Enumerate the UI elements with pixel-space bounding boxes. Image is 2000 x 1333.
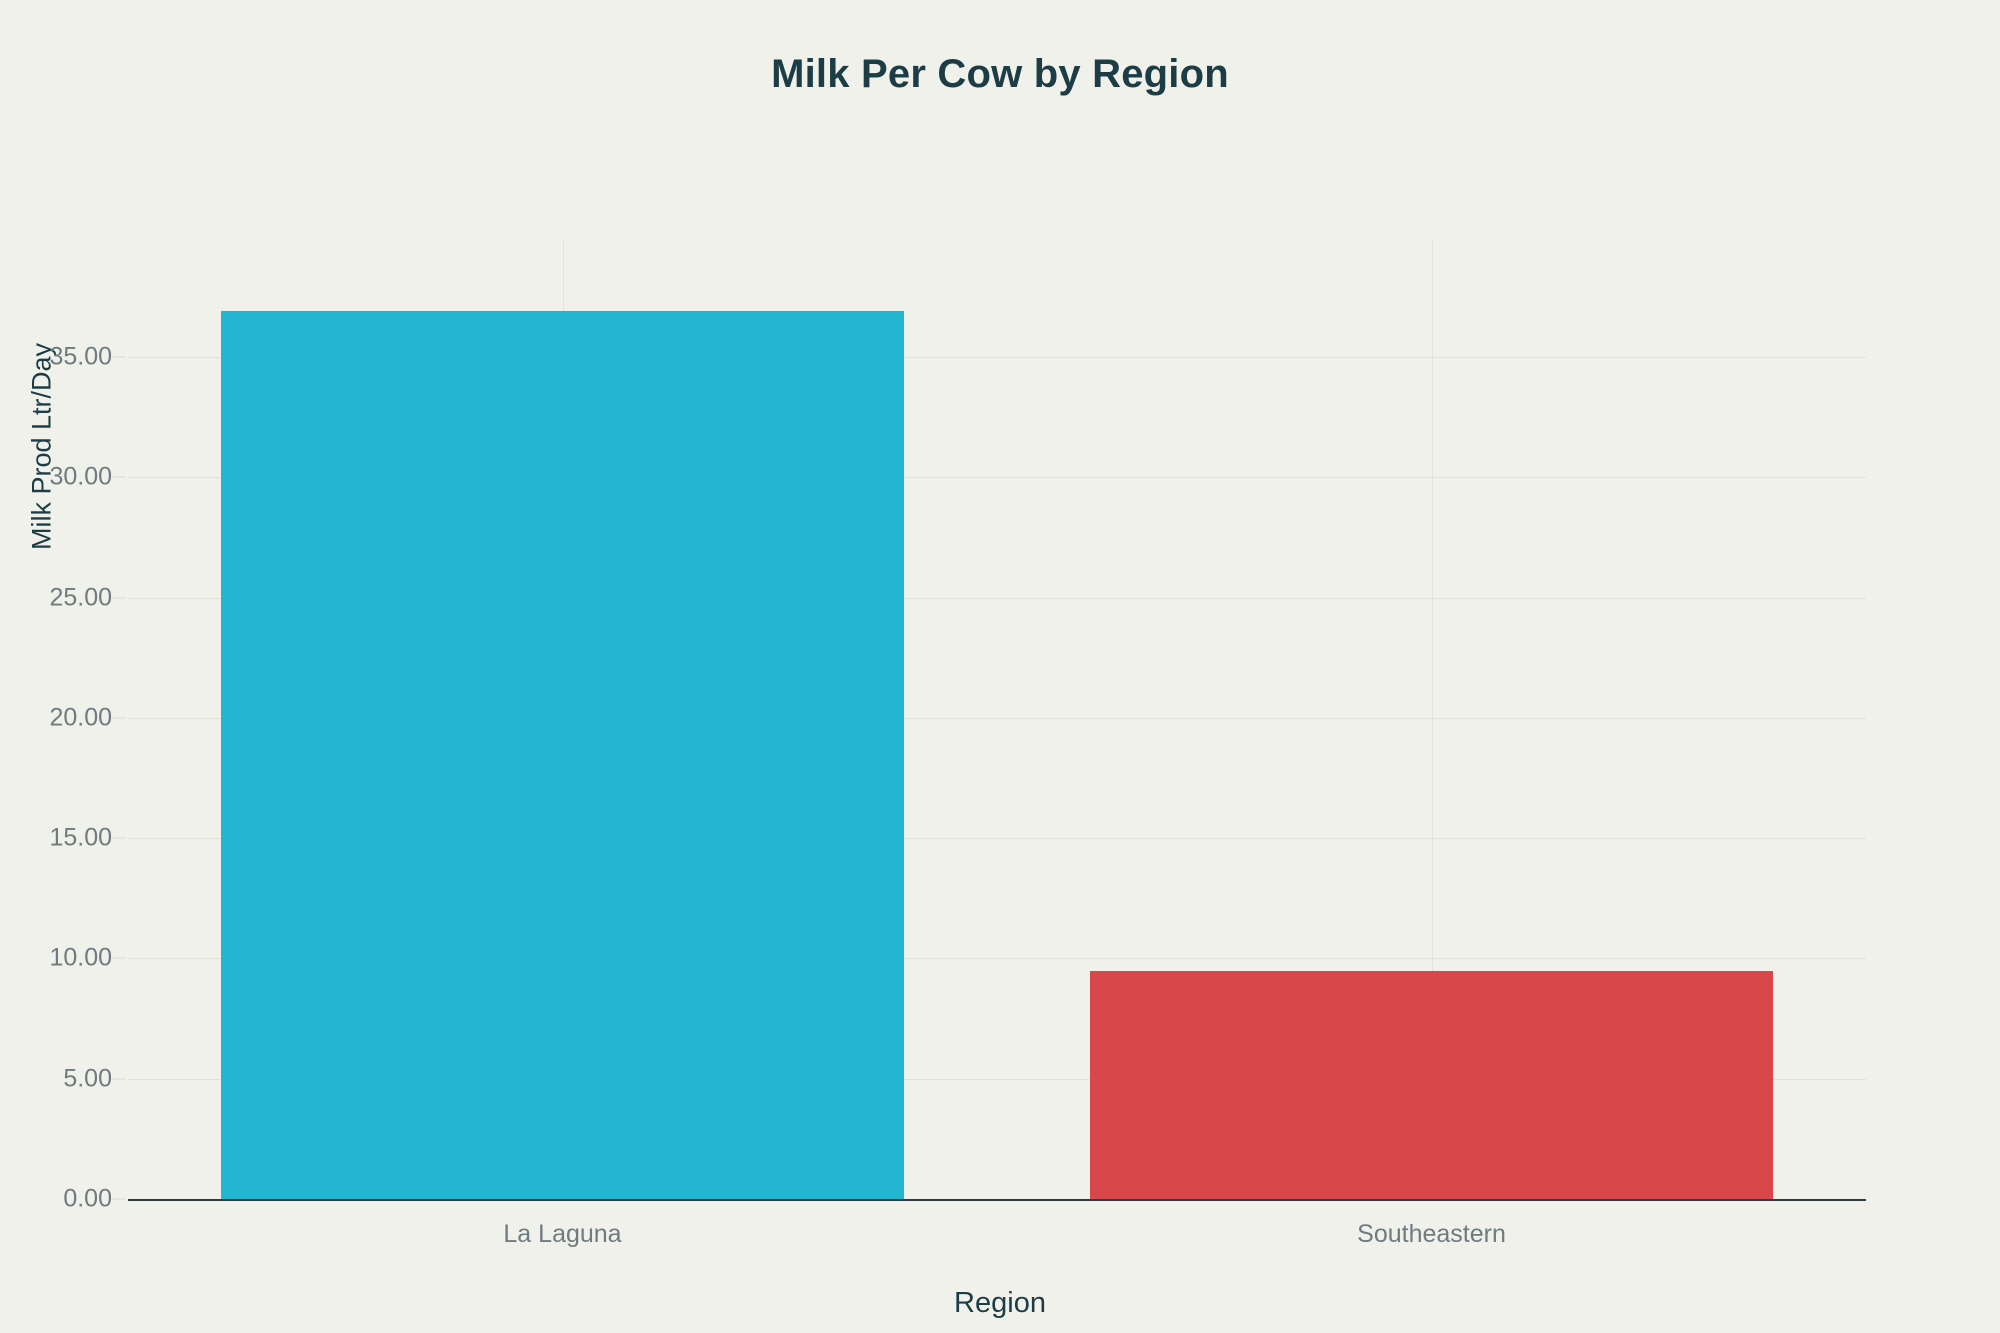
y-axis-tick-mark (112, 838, 126, 839)
y-axis-tick-label: 0.00 (63, 1185, 112, 1214)
chart-title: Milk Per Cow by Region (0, 52, 2000, 97)
y-axis-title: Milk Prod Ltr/Day (27, 87, 58, 807)
y-axis-tick-mark (112, 1199, 126, 1200)
bar-southeastern[interactable] (1090, 971, 1774, 1199)
y-axis-tick-mark (112, 477, 126, 478)
x-axis-line (128, 1199, 1866, 1201)
y-axis-tick-label: 25.00 (49, 583, 112, 612)
bar-chart: Milk Per Cow by Region Milk Prod Ltr/Day… (0, 0, 2000, 1333)
y-axis-tick-mark (112, 958, 126, 959)
x-axis-tick-label: La Laguna (503, 1220, 621, 1249)
y-axis-tick-mark (112, 1078, 126, 1079)
y-axis-tick-label: 20.00 (49, 703, 112, 732)
bar-la-laguna[interactable] (221, 311, 905, 1199)
y-axis-tick-label: 15.00 (49, 824, 112, 853)
x-axis-tick-label: Southeastern (1357, 1220, 1506, 1249)
y-axis-tick-label: 35.00 (49, 343, 112, 372)
y-axis-tick-mark (112, 357, 126, 358)
y-axis-tick-mark (112, 717, 126, 718)
x-axis-title: Region (0, 1287, 2000, 1320)
plot-area (128, 240, 1866, 1199)
y-axis-tick-label: 5.00 (63, 1064, 112, 1093)
y-axis-tick-label: 30.00 (49, 463, 112, 492)
y-axis-tick-mark (112, 597, 126, 598)
y-axis-tick-label: 10.00 (49, 944, 112, 973)
